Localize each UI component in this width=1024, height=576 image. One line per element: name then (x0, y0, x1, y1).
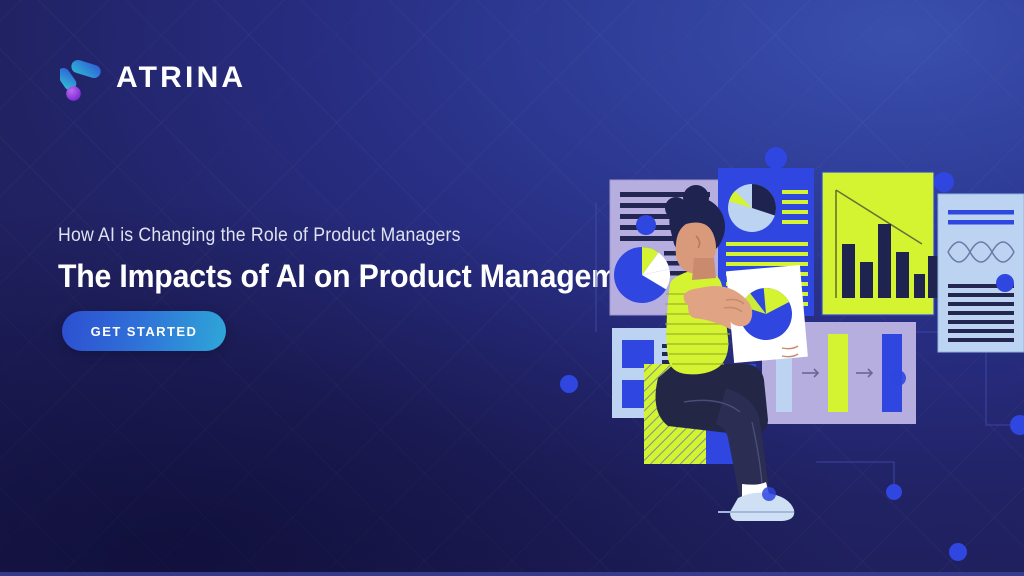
brand-name: ATRINA (116, 61, 246, 95)
atrina-a-mark-icon (60, 55, 102, 101)
brand-logo[interactable]: ATRINA (60, 55, 246, 101)
hero-banner: ATRINA How AI is Changing the Role of Pr… (0, 0, 1024, 576)
hero-copy: How AI is Changing the Role of Product M… (58, 225, 638, 295)
bottom-accent-strip (0, 572, 1024, 576)
get-started-button[interactable]: GET STARTED (62, 311, 226, 351)
panel-bar-chart-lime (822, 172, 940, 315)
pie-chart-blue-panel (728, 184, 776, 232)
page-title: The Impacts of AI on Product Management (58, 258, 597, 295)
pie-chart-lavender-panel (614, 247, 670, 303)
product-manager-analytics-illustration (566, 132, 1024, 492)
panel-document-lightblue (938, 194, 1024, 352)
hero-eyebrow: How AI is Changing the Role of Product M… (58, 225, 597, 247)
